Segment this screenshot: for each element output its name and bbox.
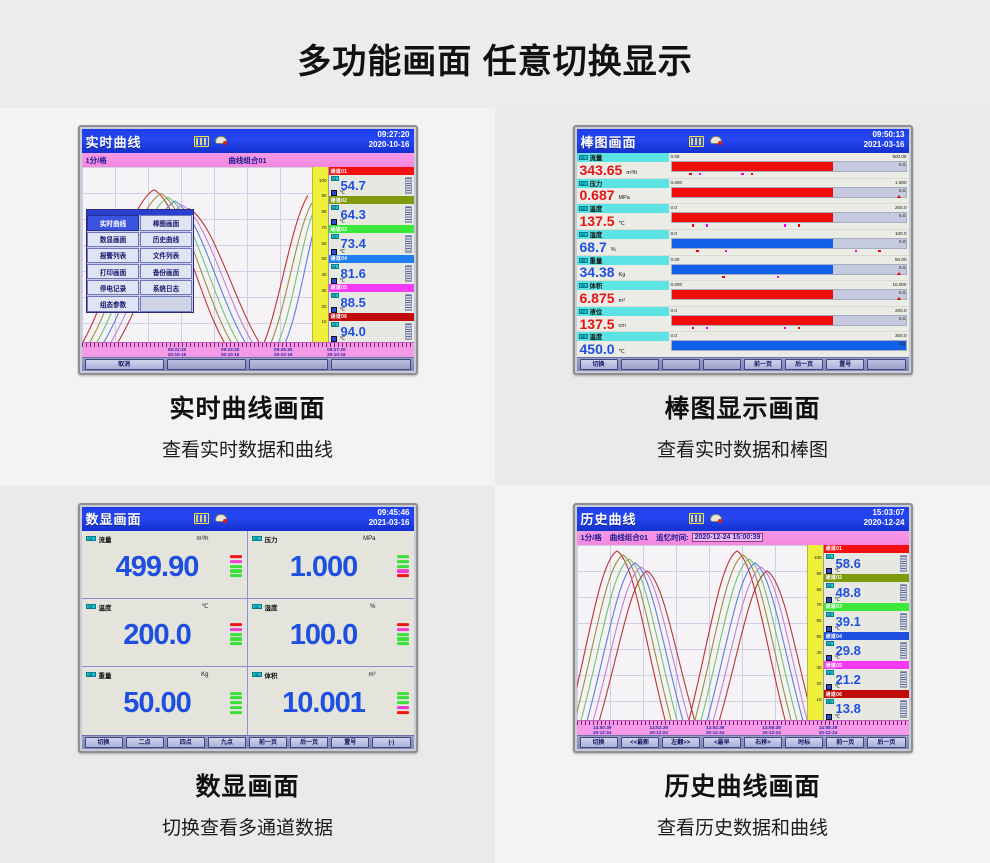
- time-axis-label: 09:25:20 20-10-16: [274, 347, 292, 357]
- screen-name: 棒图画面: [581, 132, 637, 151]
- trend-curves: [577, 545, 807, 720]
- digital-cell[interactable]: 05 重量 Kg 50.00: [82, 667, 248, 735]
- trend-plot[interactable]: 实时曲线 棒图画面 数显画面 历史曲线 报警列表 文件列表 打印画面 备份画面 …: [82, 167, 312, 342]
- bar-fill: [672, 162, 833, 171]
- channel-tag: 06: [331, 322, 339, 327]
- channel-tag: 06: [826, 699, 834, 704]
- menu-item-system-log[interactable]: 系统日志: [140, 280, 192, 295]
- alarm-led-stack: [230, 555, 242, 577]
- panel-caption-sub: 查看历史数据和曲线: [657, 813, 828, 840]
- channel-header: 通道03: [824, 603, 909, 611]
- bar-fill: [672, 290, 833, 299]
- bar-name: 液位: [590, 307, 603, 316]
- time-axis-label: 14:56:39 20-12-24: [762, 725, 780, 735]
- channel-header: 通道02: [329, 196, 414, 204]
- bar-tag: 02: [579, 181, 588, 186]
- channel-value-area: 05 88.5 ℃: [329, 292, 414, 313]
- device-screen-digital[interactable]: 数显画面 09:45:46 2021-03-16 01 流量: [78, 503, 418, 753]
- channel-state-icon: [331, 249, 337, 255]
- bar-tag: 08: [579, 334, 588, 339]
- channel-name: 流量: [99, 534, 112, 544]
- y-tick: 50: [816, 634, 821, 639]
- panel-caption-title: 棒图显示画面: [664, 389, 820, 425]
- bar-row[interactable]: 06 体积 6.875 m³ 0.000 10.000: [577, 281, 909, 307]
- clock-time: 09:45:46: [377, 508, 409, 517]
- channel-value-area: 02 64.3 ℃: [329, 204, 414, 225]
- y-tick: 40: [816, 650, 821, 655]
- bar-value: 68.7: [580, 240, 607, 254]
- trend-body: 实时曲线 棒图画面 数显画面 历史曲线 报警列表 文件列表 打印画面 备份画面 …: [82, 167, 414, 342]
- interval-label: 1分/格: [581, 532, 602, 543]
- channel-row[interactable]: 通道02 02 64.3 ℃: [329, 196, 414, 225]
- device-screen-history[interactable]: 历史曲线 15:03:07 2020-12-24 1分/格 曲线组合01 追忆时…: [573, 503, 913, 753]
- bar-value: 34.38: [580, 265, 615, 279]
- bar-readout: 02 压力 0.687 MPa: [577, 179, 669, 204]
- channel-unit: ℃: [202, 603, 209, 610]
- keyboard-icon[interactable]: [194, 136, 209, 147]
- channel-name: 压力: [265, 534, 278, 544]
- time-axis-label: 09:27:20 20-10-16: [327, 347, 345, 357]
- bar-scale: 0.00 50.00: [671, 256, 907, 264]
- button-minus[interactable]: (-): [372, 737, 410, 748]
- bar-max: 300.0: [895, 333, 907, 340]
- clock-time: 09:27:20: [377, 130, 409, 139]
- digital-cell-header: 06 体积 m³: [252, 670, 410, 680]
- bar-name-strip: 07 液位: [577, 307, 669, 316]
- channel-header: 通道05: [824, 661, 909, 669]
- bar-max: 1.000: [895, 180, 907, 187]
- bar-max: 200.0: [895, 308, 907, 315]
- button-empty[interactable]: [662, 359, 700, 370]
- channel-value-area: 05 21.2 ℃: [824, 669, 909, 690]
- channel-tag: 02: [826, 583, 834, 588]
- bar-scale: 0.000 1.000: [671, 179, 907, 187]
- device-screen-realtime[interactable]: 实时曲线 09:27:20 2020-10-16 1分/格 曲线组合01: [78, 125, 418, 375]
- channel-label: 通道05: [826, 662, 843, 669]
- channel-row[interactable]: 通道04 04 29.8 ℃: [824, 632, 909, 661]
- bar-value: 137.5: [580, 214, 615, 228]
- bar-graph-area: 0.0 200.0 6.0:: [669, 307, 909, 332]
- titlebar-icons: [689, 513, 723, 525]
- keyboard-icon[interactable]: [689, 513, 704, 524]
- bar-row[interactable]: 03 温度 137.5 ℃ 0.0 200.0: [577, 204, 909, 230]
- channel-bargraph-icon: [405, 294, 412, 311]
- channel-name: 重量: [99, 670, 112, 680]
- button-switch[interactable]: 切换: [580, 737, 618, 748]
- channel-label: 通道05: [331, 284, 348, 291]
- button-set-number[interactable]: 置号: [331, 737, 369, 748]
- channel-header: 通道01: [329, 167, 414, 175]
- panel-history-trend: 历史曲线 15:03:07 2020-12-24 1分/格 曲线组合01 追忆时…: [495, 486, 990, 863]
- channel-value-area: 03 39.1 ℃: [824, 611, 909, 632]
- digital-cell[interactable]: 03 温度 ℃ 200.0: [82, 599, 248, 667]
- channel-tag: 04: [331, 264, 339, 269]
- menu-item-alarm-list[interactable]: 报警列表: [87, 248, 139, 263]
- bar-row[interactable]: 08 温度 450.0 ℃ 0.0 300.0: [577, 332, 909, 357]
- y-tick: 20: [816, 681, 821, 686]
- channel-tag: 06: [252, 672, 262, 678]
- button-bar: 取消: [82, 357, 414, 371]
- bar-name-strip: 01 流量: [577, 153, 669, 162]
- bar-scale: 0.0 200.0: [671, 204, 907, 212]
- bar-alarm-marks: [671, 198, 907, 204]
- page-header: 多功能画面 任意切换显示: [0, 0, 990, 108]
- channel-row[interactable]: 通道06 06 94.0 ℃: [329, 313, 414, 342]
- bar-unit: %: [611, 247, 616, 255]
- time-axis: 14:50:39 20-12-24 14:52:39 20-12-24 14:5…: [577, 720, 909, 735]
- bar-row[interactable]: 04 湿度 68.7 % 0.0 100.0: [577, 230, 909, 256]
- time-axis-label: 14:52:39 20-12-24: [650, 725, 668, 735]
- clock-date: 2020-12-24: [864, 518, 905, 527]
- bar-max: 50.00: [895, 257, 907, 264]
- recall-time-field[interactable]: 2020-12-24 15:00:39: [692, 533, 764, 542]
- bar-name: 温度: [590, 332, 603, 341]
- group-label: 曲线组合01: [610, 532, 648, 543]
- alarm-bell-icon[interactable]: [214, 513, 228, 525]
- bar-readout: 01 流量 343.65 m³/h: [577, 153, 669, 178]
- channel-tag: 01: [331, 176, 339, 181]
- digital-value: 10.001: [282, 689, 365, 718]
- y-tick: 60: [816, 618, 821, 623]
- button-time-marker[interactable]: 时标: [785, 737, 823, 748]
- y-tick: 30: [816, 665, 821, 670]
- button-switch[interactable]: 切换: [580, 359, 618, 370]
- channel-unit: ℃: [340, 278, 346, 284]
- channel-unit: m³: [369, 672, 376, 678]
- button-cancel[interactable]: 取消: [85, 359, 164, 370]
- bar-track: [671, 161, 907, 172]
- button-latest[interactable]: <<最新: [621, 737, 659, 748]
- channel-name: 体积: [265, 670, 278, 680]
- channel-row[interactable]: 通道05 05 88.5 ℃: [329, 284, 414, 313]
- bar-graph-area: 0.0 200.0 6.0:: [669, 204, 909, 229]
- bar-row[interactable]: 01 流量 343.65 m³/h 0.00 500.00: [577, 153, 909, 179]
- bar-name-strip: 03 温度: [577, 204, 669, 213]
- bar-row[interactable]: 07 液位 137.5 cm 0.0 200.0: [577, 307, 909, 333]
- bar-graph-area: 0.0 100.0 6.0:: [669, 230, 909, 255]
- bar-track: [671, 340, 907, 351]
- bar-alarm-marks: [671, 351, 907, 357]
- button-set-number[interactable]: 置号: [826, 359, 864, 370]
- time-axis-label: 14:58:39 20-12-24: [819, 725, 837, 735]
- bar-tag: 05: [579, 258, 588, 263]
- channel-name: 温度: [99, 602, 112, 612]
- channel-unit: MPa: [363, 536, 375, 542]
- bar-name: 体积: [590, 281, 603, 290]
- alarm-bell-icon[interactable]: [214, 135, 228, 147]
- menu-item-backup-screen[interactable]: 备份画面: [140, 264, 192, 279]
- bar-value: 343.65: [580, 163, 623, 177]
- bar-unit: MPa: [619, 195, 630, 203]
- channel-value-area: 01 54.7 ℃: [329, 175, 414, 196]
- panel-bar-graph: 棒图画面 09:50:13 2021-03-16 01: [495, 108, 990, 486]
- digital-cell[interactable]: 04 湿度 % 100.0: [248, 599, 414, 667]
- bar-value-area: 6.875 m³: [577, 290, 669, 306]
- bar-min: 0.00: [671, 257, 680, 264]
- group-label: 曲线组合01: [228, 155, 266, 166]
- clock: 09:45:46 2021-03-16: [369, 508, 410, 528]
- bar-track: [671, 212, 907, 223]
- bar-name: 流量: [590, 153, 603, 162]
- channel-row[interactable]: 通道01 01 54.7 ℃: [329, 167, 414, 196]
- digital-value: 100.0: [290, 621, 358, 650]
- clock-date: 2020-10-16: [369, 140, 410, 149]
- channel-row[interactable]: 通道04 04 81.6 ℃: [329, 255, 414, 284]
- channel-tag: 05: [86, 672, 96, 678]
- menu-item-empty: [140, 296, 192, 311]
- time-axis-label: 09:21:20 20-10-16: [168, 347, 186, 357]
- bar-hi-limit: 6.0:: [899, 290, 906, 295]
- button-page-left[interactable]: 左翻>>: [662, 737, 700, 748]
- bar-value-area: 137.5 cm: [577, 316, 669, 332]
- keyboard-icon[interactable]: [689, 136, 704, 147]
- channel-label: 通道02: [331, 197, 348, 204]
- bar-value-area: 137.5 ℃: [577, 213, 669, 229]
- bar-name: 湿度: [590, 230, 603, 239]
- digital-value: 200.0: [123, 621, 191, 650]
- button-empty[interactable]: [249, 359, 328, 370]
- bar-list: 01 流量 343.65 m³/h 0.00 500.00: [577, 153, 909, 357]
- bar-graph-area: 0.00 500.00 6.0:: [669, 153, 909, 178]
- keyboard-icon[interactable]: [194, 513, 209, 524]
- bar-min: 0.0: [671, 333, 677, 340]
- button-empty[interactable]: [331, 359, 410, 370]
- y-tick: 70: [816, 602, 821, 607]
- bar-track: [671, 187, 907, 198]
- button-two-point[interactable]: 二点: [126, 737, 164, 748]
- bar-graph-area: 0.000 10.000 6.0:: [669, 281, 909, 306]
- bar-tag: 03: [579, 206, 588, 211]
- screen-menu[interactable]: 实时曲线 棒图画面 数显画面 历史曲线 报警列表 文件列表 打印画面 备份画面 …: [86, 209, 194, 313]
- alarm-led-stack: [397, 555, 409, 577]
- y-tick: 100: [814, 555, 822, 560]
- bar-alarm-marks: [671, 275, 907, 281]
- alarm-led-stack: [397, 692, 409, 714]
- digital-cell-header: 02 压力 MPa: [252, 534, 410, 544]
- channel-tag: 05: [826, 670, 834, 675]
- panel-caption-title: 实时曲线画面: [169, 389, 325, 425]
- panel-realtime-trend: 实时曲线 09:27:20 2020-10-16 1分/格 曲线组合01: [0, 108, 495, 486]
- digital-cell[interactable]: 02 压力 MPa 1.000: [248, 531, 414, 599]
- bar-unit: m³: [619, 298, 625, 306]
- time-axis-label: 09:23:20 20-10-16: [221, 347, 239, 357]
- button-empty[interactable]: [621, 359, 659, 370]
- clock-time: 09:50:13: [872, 130, 904, 139]
- bar-fill: [672, 265, 833, 274]
- time-axis-label: 14:50:39 20-12-24: [593, 725, 611, 735]
- bar-value-area: 343.65 m³/h: [577, 162, 669, 178]
- channel-header: 通道04: [824, 632, 909, 640]
- menu-item-realtime-trend[interactable]: 实时曲线: [87, 215, 139, 230]
- bar-alarm-marks: [671, 223, 907, 229]
- bar-unit: ℃: [619, 221, 625, 229]
- bar-max: 500.00: [892, 154, 906, 161]
- alarm-led-stack: [230, 692, 242, 714]
- y-tick: 100: [319, 178, 327, 183]
- y-tick: 70: [321, 225, 326, 230]
- bar-name-strip: 02 压力: [577, 179, 669, 188]
- button-next-page[interactable]: 后一页: [290, 737, 328, 748]
- channel-header: 通道06: [329, 313, 414, 321]
- bar-name-strip: 06 体积: [577, 281, 669, 290]
- button-empty[interactable]: [703, 359, 741, 370]
- menu-item-bar-screen[interactable]: 棒图画面: [140, 215, 192, 230]
- bar-fill: [672, 188, 833, 197]
- alarm-bell-icon[interactable]: [709, 135, 723, 147]
- bar-graph-area: 0.000 1.000 6.0:: [669, 179, 909, 204]
- menu-item-file-list[interactable]: 文件列表: [140, 248, 192, 263]
- button-next-page[interactable]: 后一页: [785, 359, 823, 370]
- channel-state-icon: [331, 190, 337, 196]
- channel-bargraph-icon: [405, 235, 412, 252]
- bar-readout: 07 液位 137.5 cm: [577, 307, 669, 332]
- channel-state-icon: [826, 684, 832, 690]
- channel-unit: ℃: [340, 249, 346, 255]
- button-nine-point[interactable]: 九点: [208, 737, 246, 748]
- channel-state-icon: [826, 597, 832, 603]
- panel-caption-title: 数显画面: [195, 767, 299, 803]
- channel-tag: 04: [252, 604, 262, 610]
- menu-item-power-log[interactable]: 停电记录: [87, 280, 139, 295]
- bar-unit: Kg: [619, 272, 626, 280]
- menu-item-print-screen[interactable]: 打印画面: [87, 264, 139, 279]
- channel-tag: 03: [331, 234, 339, 239]
- channel-bargraph-icon: [405, 177, 412, 194]
- bar-readout: 03 温度 137.5 ℃: [577, 204, 669, 229]
- bar-readout: 05 重量 34.38 Kg: [577, 256, 669, 281]
- channel-label: 通道01: [826, 545, 843, 552]
- channel-unit: ℃: [835, 655, 841, 661]
- bar-alarm-marks: [671, 326, 907, 332]
- button-four-point[interactable]: 四点: [167, 737, 205, 748]
- channel-header: 通道01: [824, 545, 909, 553]
- digital-value: 50.00: [123, 689, 191, 718]
- time-axis-ticks: [577, 721, 909, 725]
- menu-item-history-trend[interactable]: 历史曲线: [140, 232, 192, 247]
- channel-row[interactable]: 通道03 03 39.1 ℃: [824, 603, 909, 632]
- channel-row[interactable]: 通道05 05 21.2 ℃: [824, 661, 909, 690]
- channel-row[interactable]: 通道02 02 48.8 ℃: [824, 574, 909, 603]
- menu-items: 实时曲线 棒图画面 数显画面 历史曲线 报警列表 文件列表 打印画面 备份画面 …: [87, 215, 193, 312]
- bar-max: 10.000: [892, 282, 906, 289]
- y-tick: 80: [321, 209, 326, 214]
- titlebar: 数显画面 09:45:46 2021-03-16: [82, 507, 414, 531]
- bar-scale: 0.000 10.000: [671, 281, 907, 289]
- channel-state-icon: [331, 278, 337, 284]
- channel-row[interactable]: 通道06 06 13.8 ℃: [824, 690, 909, 719]
- channel-label: 通道04: [826, 633, 843, 640]
- bar-alarm-marks: [671, 300, 907, 306]
- channel-unit: Kg: [201, 672, 208, 678]
- menu-item-config-params[interactable]: 组态参数: [87, 296, 139, 311]
- bar-graph-area: 0.00 50.00 6.0:: [669, 256, 909, 281]
- alarm-led-stack: [397, 623, 409, 645]
- channel-value-area: 04 81.6 ℃: [329, 263, 414, 284]
- channel-label: 通道06: [826, 691, 843, 698]
- bar-tag: 06: [579, 283, 588, 288]
- channel-bargraph-icon: [900, 555, 907, 572]
- channel-row[interactable]: 通道03 03 73.4 ℃: [329, 225, 414, 254]
- button-prev-page[interactable]: 前一页: [826, 737, 864, 748]
- digital-cell-header: 04 湿度 %: [252, 602, 410, 612]
- bar-scale: 0.0 300.0: [671, 332, 907, 340]
- channel-value-area: 06 94.0 ℃: [329, 321, 414, 342]
- bar-max: 200.0: [895, 205, 907, 212]
- digital-cell-header: 05 重量 Kg: [86, 670, 243, 680]
- bar-hi-limit: 6.0:: [899, 265, 906, 270]
- y-tick: 90: [816, 571, 821, 576]
- button-switch[interactable]: 切换: [85, 737, 123, 748]
- channel-unit: m³/h: [197, 536, 209, 542]
- channel-bargraph-icon: [900, 700, 907, 717]
- channel-row[interactable]: 通道01 01 58.6 ℃: [824, 545, 909, 574]
- digital-cell[interactable]: 01 流量 m³/h 499.90: [82, 531, 248, 599]
- button-prev-page[interactable]: 前一页: [744, 359, 782, 370]
- bar-value: 137.5: [580, 317, 615, 331]
- menu-item-digital-screen[interactable]: 数显画面: [87, 232, 139, 247]
- panel-caption-sub: 切换查看多通道数据: [162, 813, 333, 840]
- channel-header: 通道03: [329, 225, 414, 233]
- trend-plot[interactable]: [577, 545, 807, 720]
- bar-track: [671, 289, 907, 300]
- channel-label: 通道03: [331, 226, 348, 233]
- channel-state-icon: [331, 307, 337, 313]
- bar-fill: [672, 213, 833, 222]
- titlebar: 历史曲线 15:03:07 2020-12-24: [577, 507, 909, 531]
- channel-value-area: 04 29.8 ℃: [824, 640, 909, 661]
- button-prev-page[interactable]: 前一页: [249, 737, 287, 748]
- titlebar: 实时曲线 09:27:20 2020-10-16: [82, 129, 414, 153]
- panel-caption-title: 历史曲线画面: [664, 767, 820, 803]
- button-earliest[interactable]: <最早: [703, 737, 741, 748]
- bar-value: 0.687: [580, 188, 615, 202]
- channel-bargraph-icon: [900, 584, 907, 601]
- clock: 09:50:13 2021-03-16: [864, 130, 905, 150]
- button-next-page[interactable]: 后一页: [867, 737, 905, 748]
- bar-row[interactable]: 05 重量 34.38 Kg 0.00 50.00: [577, 256, 909, 282]
- button-empty[interactable]: [167, 359, 246, 370]
- button-shift-right[interactable]: 右移>: [744, 737, 782, 748]
- alarm-bell-icon[interactable]: [709, 513, 723, 525]
- y-tick: 10: [321, 319, 326, 324]
- bar-alarm-marks: [671, 172, 907, 178]
- bar-row[interactable]: 02 压力 0.687 MPa 0.000 1.000: [577, 179, 909, 205]
- digital-cell[interactable]: 06 体积 m³ 10.001: [248, 667, 414, 735]
- bar-tag: 01: [579, 155, 588, 160]
- bar-min: 0.0: [671, 205, 677, 212]
- titlebar-icons: [689, 135, 723, 147]
- bar-name: 压力: [590, 179, 603, 188]
- bar-scale: 0.00 500.00: [671, 153, 907, 161]
- channel-unit: ℃: [340, 190, 346, 196]
- bar-scale: 0.0 100.0: [671, 230, 907, 238]
- channel-bargraph-icon: [900, 613, 907, 630]
- screen-name: 历史曲线: [581, 509, 637, 528]
- device-screen-bar[interactable]: 棒图画面 09:50:13 2021-03-16 01: [573, 125, 913, 375]
- channel-tag: 03: [826, 612, 834, 617]
- button-empty[interactable]: [867, 359, 905, 370]
- time-axis: 09:21:20 20-10-16 09:23:20 20-10-16 09:2…: [82, 342, 414, 357]
- time-axis-label: 14:54:39 20-12-24: [706, 725, 724, 735]
- clock-date: 2021-03-16: [369, 518, 410, 527]
- bar-alarm-triangle-icon: [897, 195, 901, 198]
- bar-track: [671, 315, 907, 326]
- channel-unit: ℃: [340, 219, 346, 225]
- channel-unit: ℃: [835, 597, 841, 603]
- screen-name: 实时曲线: [86, 132, 142, 151]
- trend-subbar: 1分/格 曲线组合01 追忆时间: 2020-12-24 15:00:39: [577, 531, 909, 545]
- bar-value-area: 68.7 %: [577, 239, 669, 255]
